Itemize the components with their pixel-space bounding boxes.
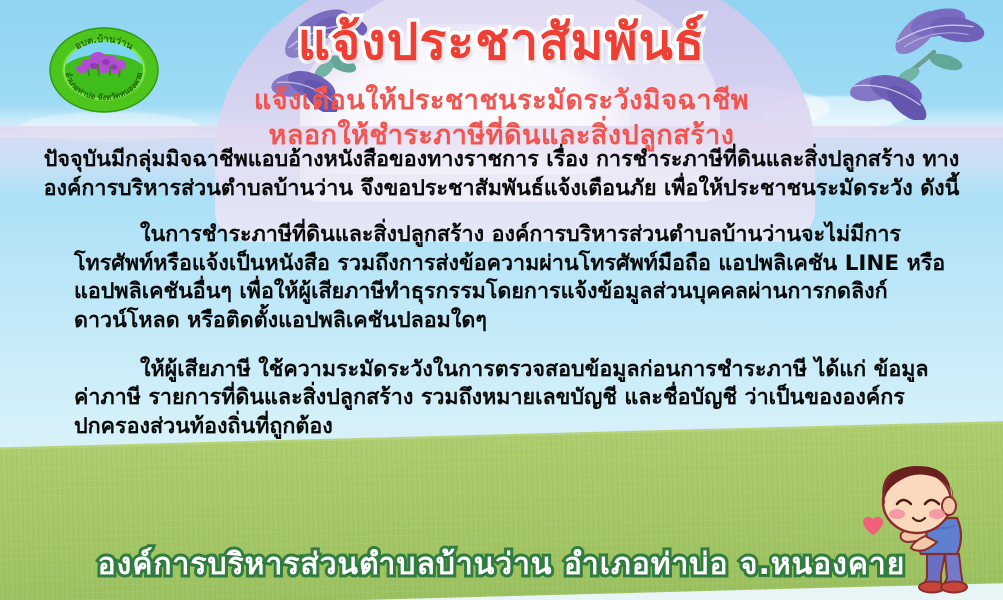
paragraph-2: ในการชำระภาษีที่ดินและสิ่งปลูกสร้าง องค์… (26, 221, 977, 335)
announcement-poster: อบต.บ้านว่าน อำเภอท่าบ่อ จังหวัดหนองคาย … (0, 0, 1003, 600)
paragraph-1: ปัจจุบันมีกลุ่มมิจฉาชีพแอบอ้างหนังสือของ… (26, 146, 977, 203)
body-content: ปัจจุบันมีกลุ่มมิจฉาชีพแอบอ้างหนังสือของ… (26, 146, 977, 457)
page-title: แจ้งประชาสัมพันธ์ (0, 16, 1003, 69)
footer-organization-name: องค์การบริหารส่วนตำบลบ้านว่าน อำเภอท่าบ่… (0, 541, 1003, 588)
subtitle-line-1: แจ้งเตือนให้ประชาชนระมัดระวังมิจฉาชีพ (0, 84, 1003, 119)
subtitle: แจ้งเตือนให้ประชาชนระมัดระวังมิจฉาชีพ หล… (0, 84, 1003, 153)
